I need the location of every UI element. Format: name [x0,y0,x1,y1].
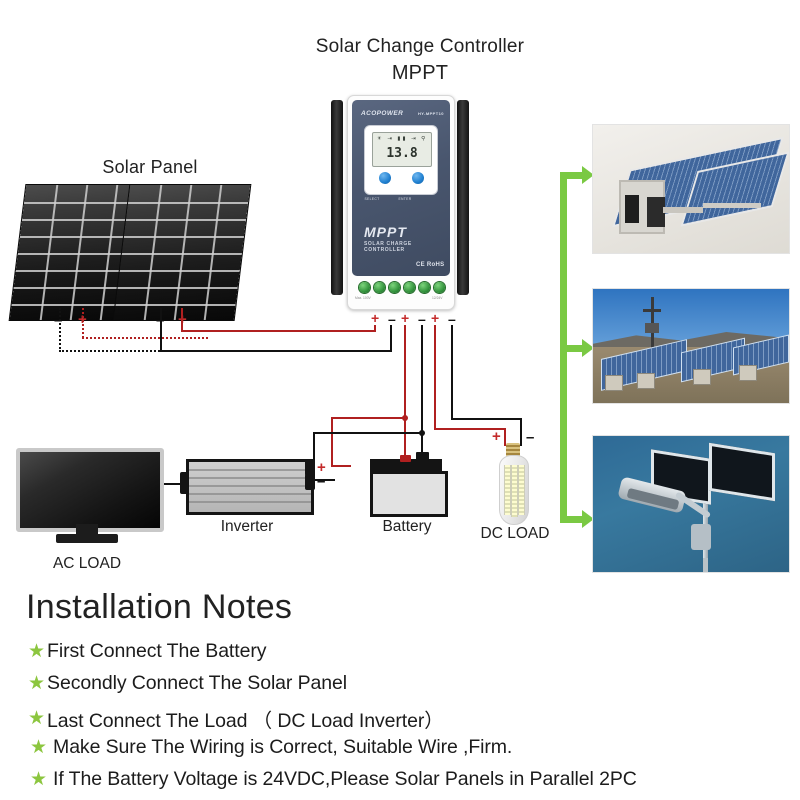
monitor-stand-base [56,534,118,543]
controller-title-line2: MPPT [280,62,560,85]
green-arrow-stem-2 [560,345,583,352]
wire-right-panel-negative-vertical [160,308,162,352]
installation-notes-title: Installation Notes [26,588,292,627]
wire-controller-solar-negative-drop [390,325,392,352]
wire-battery-negative-vertical [421,325,423,461]
inverter-minus-sign: – [317,474,325,489]
controller-display-frame: ☀ ⇥ ▮▮ ⇥ ⚲ 13.8 [365,126,437,194]
battery-negative-post [416,452,429,461]
terminal-solar-positive[interactable] [359,282,370,293]
enter-button[interactable] [412,172,424,184]
controller-solar-plus-sign: + [371,311,379,325]
wire-left-panel-positive-vertical [82,308,84,338]
terminal-solar-negative[interactable] [374,282,385,293]
dc-load-minus-sign: – [526,430,534,445]
controller-model-label: HY-MPPT10 [418,111,444,116]
battery-label: Battery [361,518,453,536]
select-button-label: SELECT [359,197,385,201]
note-text: Make Sure The Wiring is Correct, Suitabl… [53,736,512,759]
dc-load-plus-sign: + [492,429,501,444]
wire-inverter-positive-stub [331,465,351,467]
lcd-voltage-value: 13.8 [373,146,431,161]
photo-solar-street-light [592,435,790,573]
controller-battery-plus-sign: + [401,311,409,325]
note-item-1: ★ First Connect The Battery [28,640,266,663]
controller-brand-label: ACOPOWER [361,110,403,117]
terminal-battery-negative[interactable] [404,282,415,293]
note-text: Last Connect The Load （ DC Load Inverter… [47,704,444,733]
star-icon: ★ [28,674,45,693]
controller-solar-minus-sign: – [388,312,396,326]
wire-inverter-positive-vertical [331,417,333,467]
terminal-note-left: Max. 100V [355,296,371,300]
solar-panel-label: Solar Panel [60,157,240,178]
star-icon: ★ [28,709,45,728]
controller-bracket-left [331,100,343,295]
star-icon: ★ [28,642,45,661]
controller-subtitle-label: SOLAR CHARGE CONTROLLER [364,241,450,253]
inverter [186,459,314,515]
lcd-status-icons: ☀ ⇥ ▮▮ ⇥ ⚲ [373,136,431,142]
controller-bracket-right [457,100,469,295]
panel-cell-grid [114,185,251,320]
wire-right-panel-positive-vertical [181,308,183,332]
dc-load-label: DC LOAD [470,525,560,543]
note-text: Secondly Connect The Solar Panel [47,672,347,695]
controller-mppt-label: MPPT [364,224,407,240]
wire-inverter-negative-horizontal [313,432,421,434]
inverter-terminal-negative [305,474,315,490]
ac-load-label: AC LOAD [7,555,167,573]
controller-title-line1: Solar Change Controller [280,36,560,58]
wire-load-negative-vertical [451,325,453,419]
inverter-label: Inverter [187,518,307,536]
controller-load-minus-sign: – [448,312,456,326]
terminal-load-negative[interactable] [434,282,445,293]
enter-button-label: ENTER [392,197,418,201]
note-text: If The Battery Voltage is 24VDC,Please S… [53,768,637,791]
solar-panel-right [114,185,251,320]
wire-load-negative-drop [520,418,522,446]
star-icon: ★ [30,770,47,789]
photo-ground-mount-array [592,288,790,404]
ac-load-monitor [16,448,164,532]
note-item-3: ★ Last Connect The Load （ DC Load Invert… [28,704,444,733]
note-item-5: ★ If The Battery Voltage is 24VDC,Please… [30,768,637,791]
wire-left-panel-positive-horizontal [82,337,208,339]
note-item-2: ★ Secondly Connect The Solar Panel [28,672,347,695]
wire-left-panel-negative-vertical [59,308,61,352]
green-arrow-stem-1 [560,172,583,179]
controller-front-panel: ACOPOWER HY-MPPT10 ☀ ⇥ ▮▮ ⇥ ⚲ 13.8 SELEC… [352,100,450,276]
photo-wall-mounted-array [592,124,790,254]
wire-right-panel-negative-horizontal [160,350,392,352]
dc-load-bulb [499,455,529,525]
wire-battery-positive-vertical [404,325,406,462]
terminal-load-positive[interactable] [419,282,430,293]
terminal-note-right: 12/24V [432,296,442,300]
controller-load-plus-sign: + [431,311,439,325]
note-text: First Connect The Battery [47,640,266,663]
controller-certification-label: CE RoHS [416,262,444,268]
controller-battery-minus-sign: – [418,312,426,326]
terminal-battery-positive[interactable] [389,282,400,293]
battery [370,471,448,517]
battery-positive-post [400,455,411,462]
star-icon: ★ [30,738,47,757]
wire-load-negative-horizontal [451,418,522,420]
wire-load-positive-vertical [434,325,436,429]
wire-left-panel-negative-horizontal [59,350,163,352]
green-arrow-stem-3 [560,516,583,523]
note-item-4: ★ Make Sure The Wiring is Correct, Suita… [30,736,512,759]
controller-lcd: ☀ ⇥ ▮▮ ⇥ ⚲ 13.8 [372,132,432,167]
wire-right-panel-positive-horizontal [181,330,375,332]
solar-charge-controller[interactable]: ACOPOWER HY-MPPT10 ☀ ⇥ ▮▮ ⇥ ⚲ 13.8 SELEC… [347,95,455,310]
wire-controller-solar-positive-drop [374,325,376,332]
wire-inverter-positive-horizontal [331,417,404,419]
select-button[interactable] [379,172,391,184]
